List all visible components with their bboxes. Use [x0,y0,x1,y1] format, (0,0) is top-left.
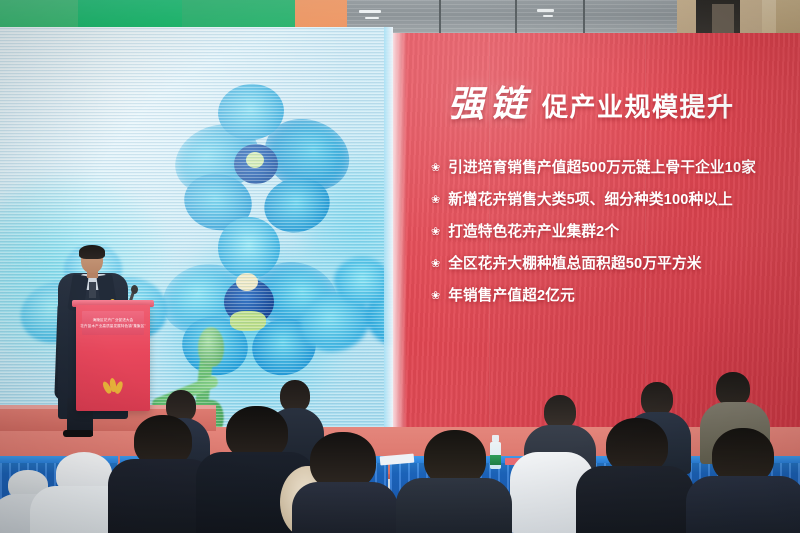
list-item: ❀ 年销售产值超2亿元 [431,287,796,306]
title-script-text: 强链 [448,75,532,127]
flower-bullet-icon: ❀ [431,255,440,274]
flower-bullet-icon: ❀ [431,287,440,306]
bullet-text: 引进培育销售产值超500万元链上骨干企业10家 [448,159,756,178]
microphone-icon [131,285,138,294]
bullet-text: 全区花卉大棚种植总面积超50万平方米 [448,255,701,274]
ceiling-light [537,9,554,12]
speaker-hair [79,245,105,259]
flower-bullet-icon: ❀ [431,159,440,178]
party-emblem-icon [103,378,123,396]
podium-sign-line-2: 花卉苗木产业高质量发展特色镇"集聚区" [80,324,146,329]
bullet-text: 年销售产值超2亿元 [448,287,575,306]
audience-member [286,432,398,533]
orchid-bud [198,327,224,367]
bullet-text: 新增花卉销售大类5项、细分种类100种以上 [448,191,733,210]
slide-bullet-list: ❀ 引进培育销售产值超500万元链上骨干企业10家 ❀ 新增花卉销售大类5项、细… [431,159,796,319]
podium-sign-line-1: 海陵区花卉广业促进大会 [93,318,134,323]
ceiling-light [543,15,553,17]
screen-edge [384,27,393,427]
ceiling-light [365,17,379,19]
bullet-text: 打造特色花卉产业集群2个 [448,223,619,242]
podium-sign: 海陵区花卉广业促进大会 花卉苗木产业高质量发展特色镇"集聚区" [82,311,144,335]
audience-member [396,430,512,533]
ceiling-light [359,10,381,13]
speaker-shoes [63,430,93,437]
audience-member [686,428,800,533]
flower-bullet-icon: ❀ [431,191,440,210]
list-item: ❀ 引进培育销售产值超500万元链上骨干企业10家 [431,159,796,178]
speaker-tie [89,282,96,298]
orchid-flower [300,257,393,387]
list-item: ❀ 打造特色花卉产业集群2个 [431,223,796,242]
list-item: ❀ 全区花卉大棚种植总面积超50万平方米 [431,255,796,274]
presentation-slide: 强链 促产业规模提升 ❀ 引进培育销售产值超500万元链上骨干企业10家 ❀ 新… [393,33,800,427]
conference-photo: 强链 促产业规模提升 ❀ 引进培育销售产值超500万元链上骨干企业10家 ❀ 新… [0,0,800,533]
audience-member [576,418,694,533]
flower-bullet-icon: ❀ [431,223,440,242]
title-bold-text: 促产业规模提升 [542,87,735,124]
list-item: ❀ 新增花卉销售大类5项、细分种类100种以上 [431,191,796,210]
slide-title: 强链 促产业规模提升 [448,75,735,127]
